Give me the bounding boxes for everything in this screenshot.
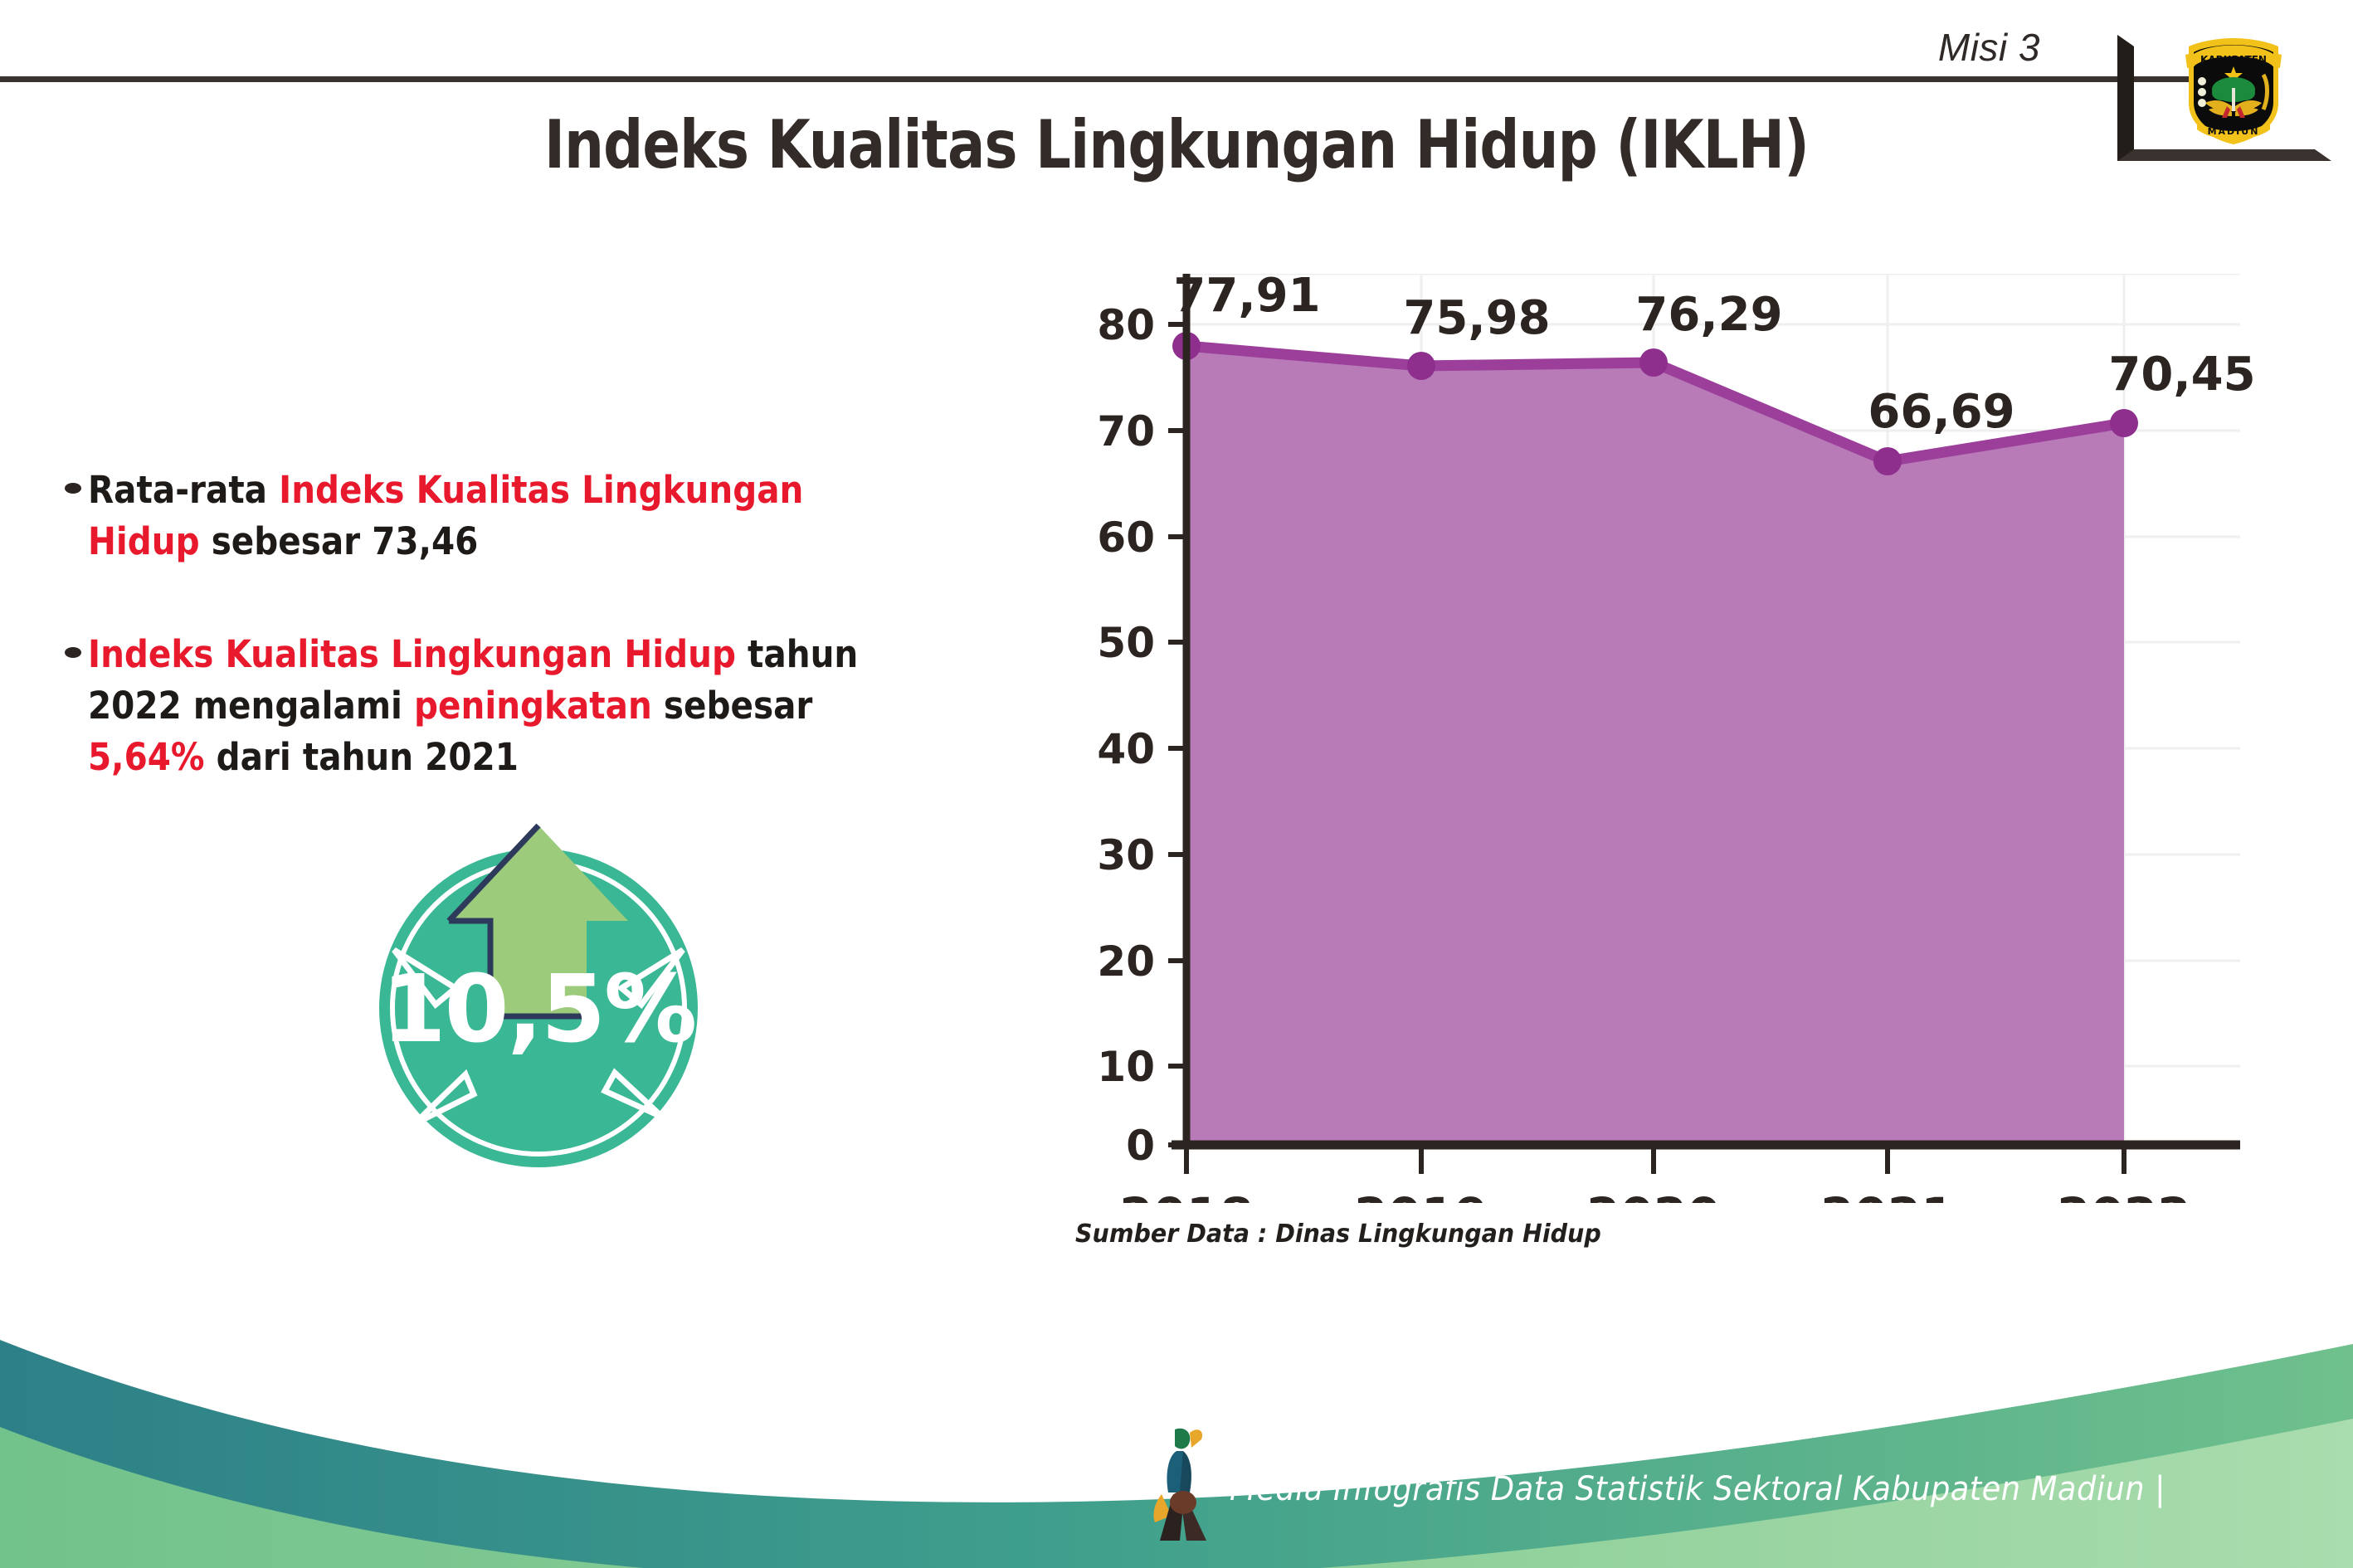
list-item: Rata-rata Indeks Kualitas Lingkungan Hid… — [65, 465, 961, 567]
svg-text:80: 80 — [1097, 301, 1155, 349]
increase-badge — [331, 743, 746, 1174]
statistics-figure-logo-icon — [1143, 1423, 1222, 1547]
mission-label: Misi 3 — [1938, 25, 2040, 70]
bullet-text-1: Rata-rata Indeks Kualitas Lingkungan Hid… — [88, 465, 874, 567]
svg-text:2019: 2019 — [1354, 1187, 1488, 1203]
header-divider — [0, 76, 2220, 82]
svg-text:2018: 2018 — [1119, 1187, 1253, 1203]
infographic-slide: Misi 3 KABUPATEN MADIUN — [0, 0, 2353, 1568]
svg-text:2022: 2022 — [2057, 1187, 2190, 1203]
chart-source-note: Sumber Data : Dinas Lingkungan Hidup — [1075, 1220, 1601, 1249]
svg-text:75,98: 75,98 — [1403, 291, 1550, 345]
svg-text:2020: 2020 — [1586, 1187, 1720, 1203]
svg-text:77,91: 77,91 — [1173, 274, 1320, 323]
svg-text:10: 10 — [1097, 1043, 1155, 1091]
svg-text:70: 70 — [1097, 407, 1155, 455]
svg-text:76,29: 76,29 — [1635, 288, 1782, 342]
footer-caption: Media Infografis Data Statistik Sektoral… — [1230, 1470, 2165, 1508]
chart-area-fill — [1186, 346, 2124, 1145]
svg-text:30: 30 — [1097, 831, 1155, 879]
svg-text:70,45: 70,45 — [2108, 348, 2255, 402]
svg-text:60: 60 — [1097, 514, 1155, 562]
bullet-dot-icon — [65, 647, 81, 658]
svg-text:40: 40 — [1097, 725, 1155, 773]
svg-text:2021: 2021 — [1820, 1187, 1954, 1203]
svg-text:66,69: 66,69 — [1868, 385, 2014, 439]
svg-text:50: 50 — [1097, 619, 1155, 667]
chart-x-tick-labels: 2018 2019 2020 2021 2022 — [1119, 1187, 2190, 1203]
svg-text:0: 0 — [1126, 1122, 1155, 1170]
kabupaten-madiun-emblem-icon: KABUPATEN MADIUN — [2180, 32, 2287, 148]
iklh-area-chart: 80 70 60 50 40 30 20 10 0 2018 2019 2020… — [979, 274, 2273, 1203]
svg-text:20: 20 — [1097, 937, 1155, 986]
emblem-bottom-label: MADIUN — [2208, 126, 2260, 137]
page-title: Indeks Kualitas Lingkungan Hidup (IKLH) — [188, 106, 2165, 183]
bullet-dot-icon — [65, 483, 81, 494]
emblem-top-label: KABUPATEN — [2200, 54, 2267, 66]
chart-y-tick-labels: 80 70 60 50 40 30 20 10 0 — [1097, 301, 1155, 1170]
